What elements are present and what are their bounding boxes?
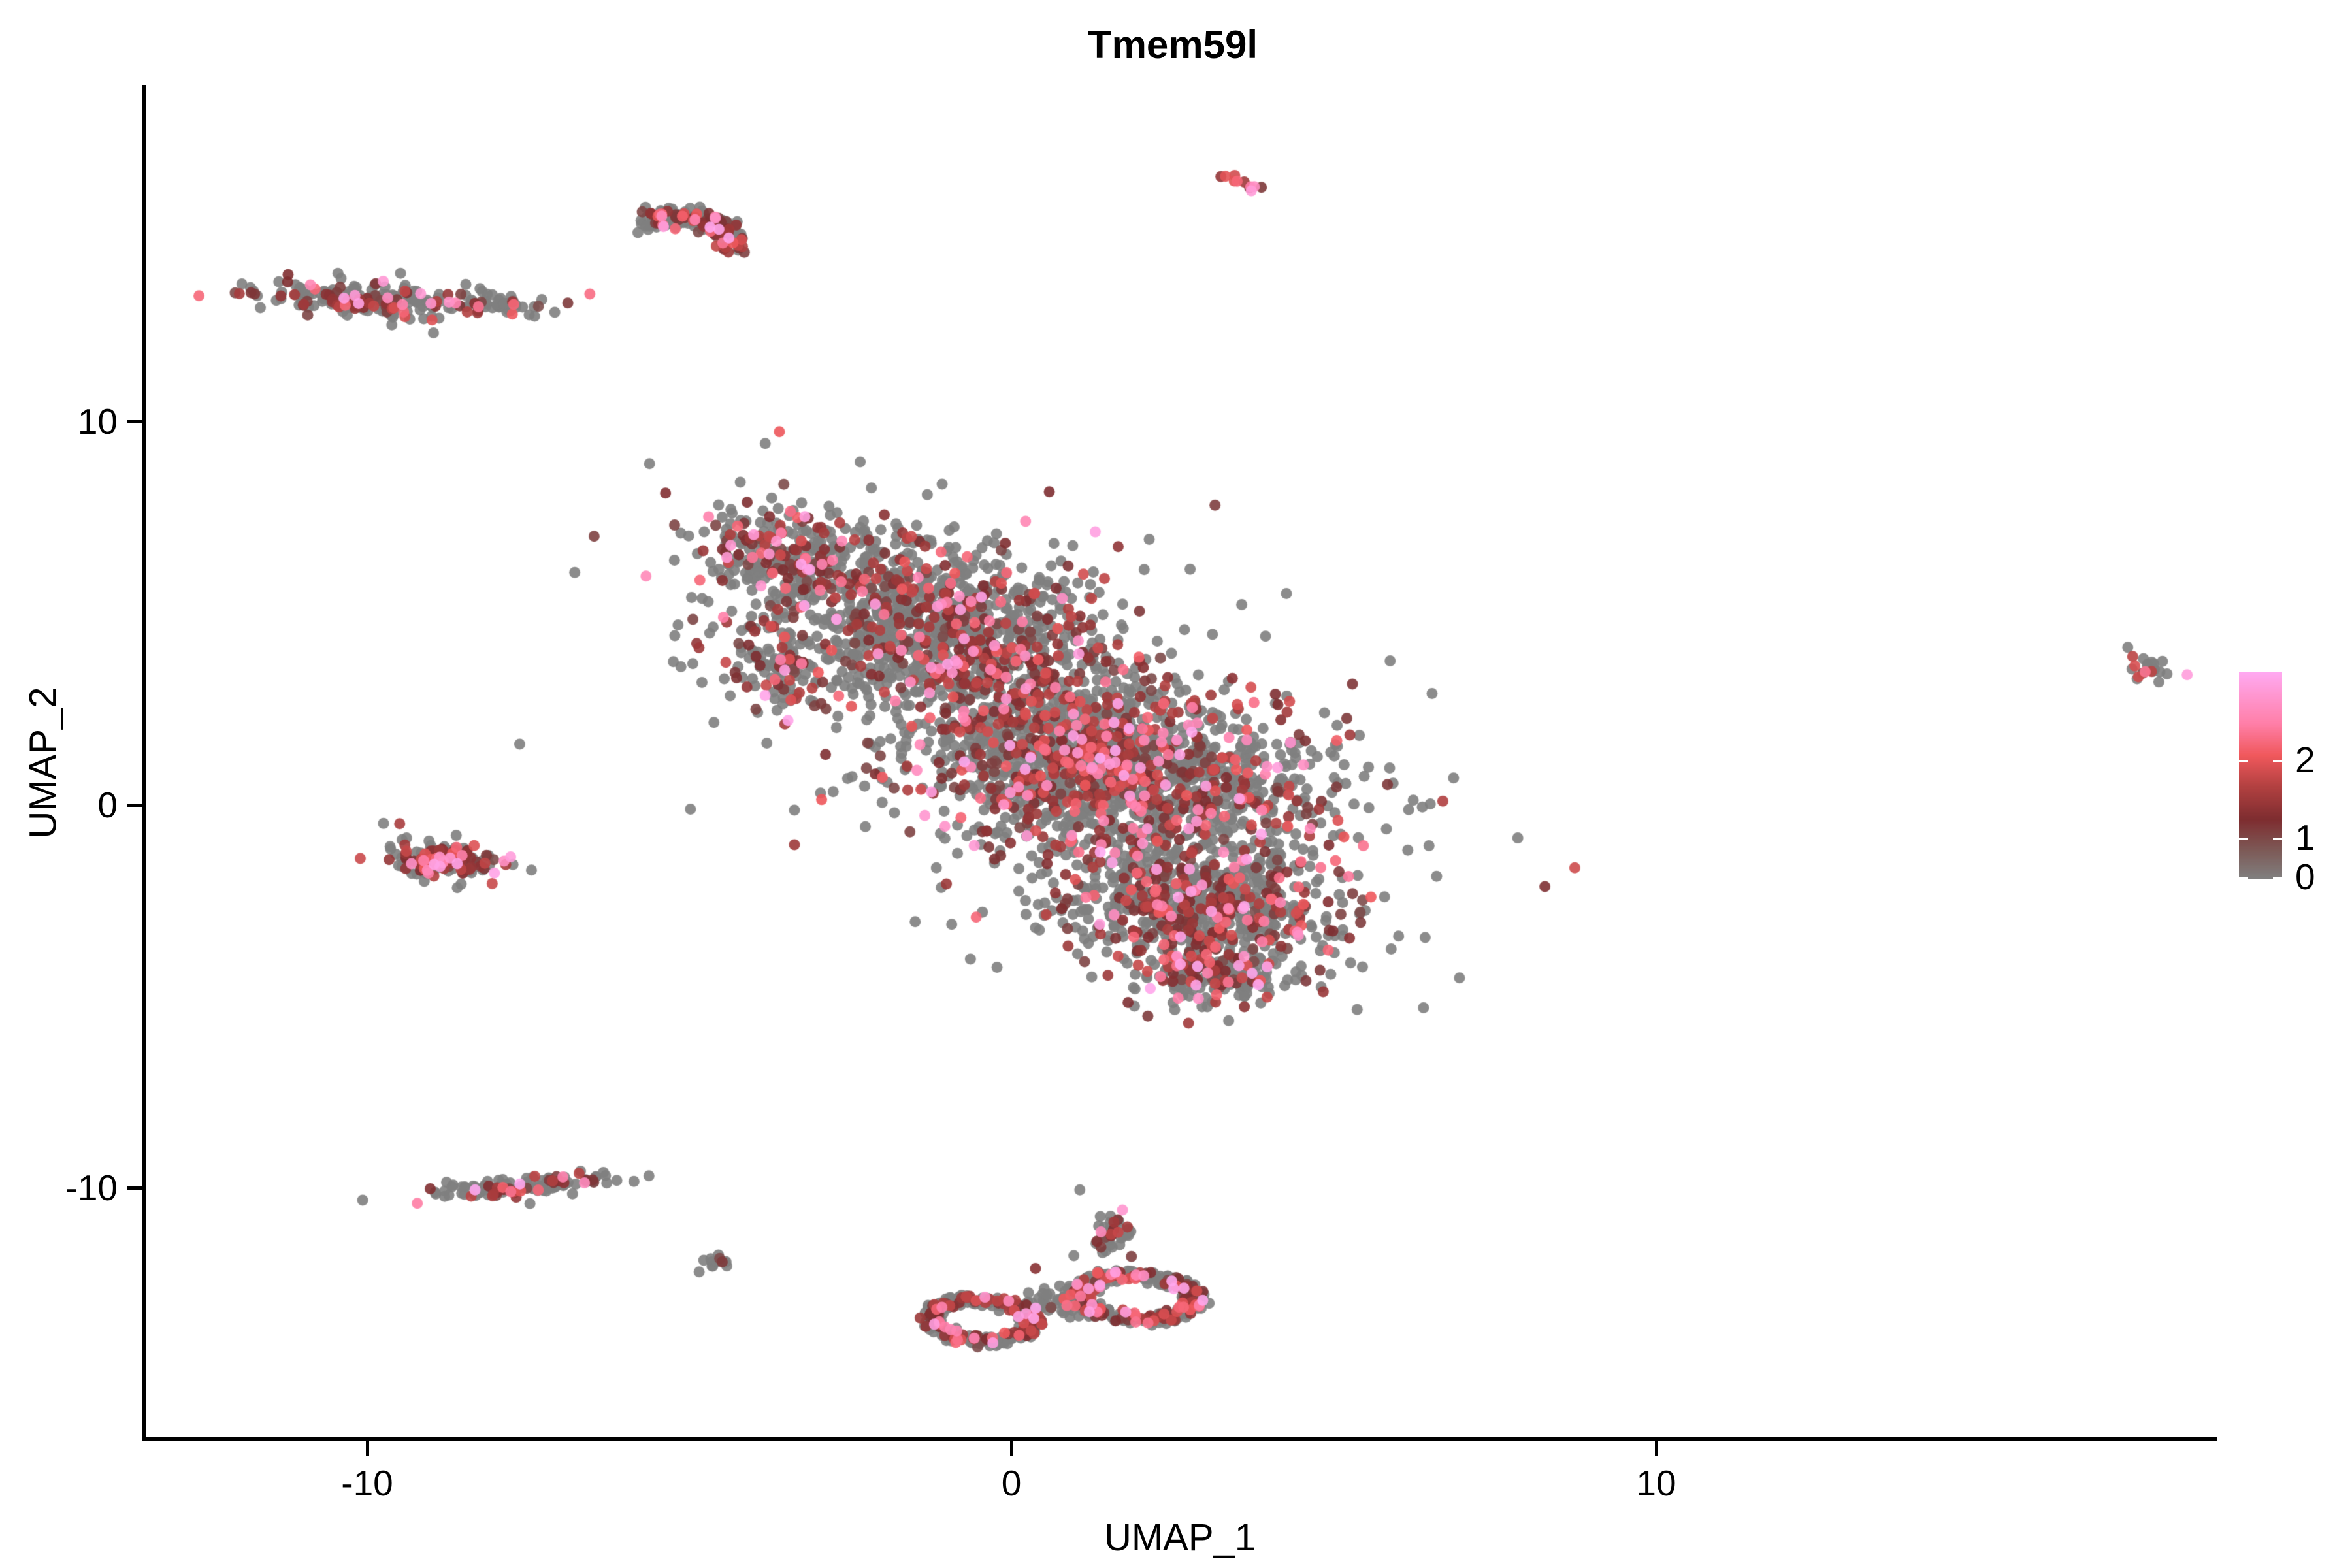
x-axis-title: UMAP_1 [145,1516,2215,1560]
x-tick-label-0: 0 [913,1465,1109,1501]
umap-figure: Tmem59l 10 0 -10 -10 0 10 UMAP_1 UMAP_2 … [0,0,2352,1568]
y-axis-line [142,85,146,1441]
y-axis-title: UMAP_2 [22,587,65,939]
scatter-plot-panel [145,85,2215,1439]
x-tick-label-10: 10 [1558,1465,1754,1501]
colorbar-tick-0-right [2273,877,2282,879]
y-tick-mark-10 [127,420,142,423]
colorbar-gradient [2239,672,2282,879]
x-tick-label-neg10: -10 [269,1465,465,1501]
colorbar-label-1: 1 [2295,820,2315,856]
x-tick-mark-10 [1655,1441,1658,1456]
y-tick-label-neg10: -10 [0,1170,118,1206]
y-tick-mark-neg10 [127,1186,142,1190]
y-tick-label-10: 10 [0,404,118,440]
colorbar-label-2: 2 [2295,742,2315,778]
colorbar-label-0: 0 [2295,859,2315,895]
page-title: Tmem59l [0,22,2345,67]
scatter-points-canvas [145,85,2215,1439]
x-tick-mark-neg10 [366,1441,369,1456]
y-tick-mark-0 [127,804,142,807]
colorbar-tick-0-left [2239,877,2248,879]
colorbar-legend: 2 1 0 [2239,672,2350,881]
x-axis-line [143,1437,2217,1441]
colorbar-tick-1-right [2273,838,2282,840]
colorbar-tick-1-left [2239,838,2248,840]
colorbar-tick-2-right [2273,760,2282,762]
colorbar-tick-2-left [2239,760,2248,762]
x-tick-mark-0 [1010,1441,1013,1456]
